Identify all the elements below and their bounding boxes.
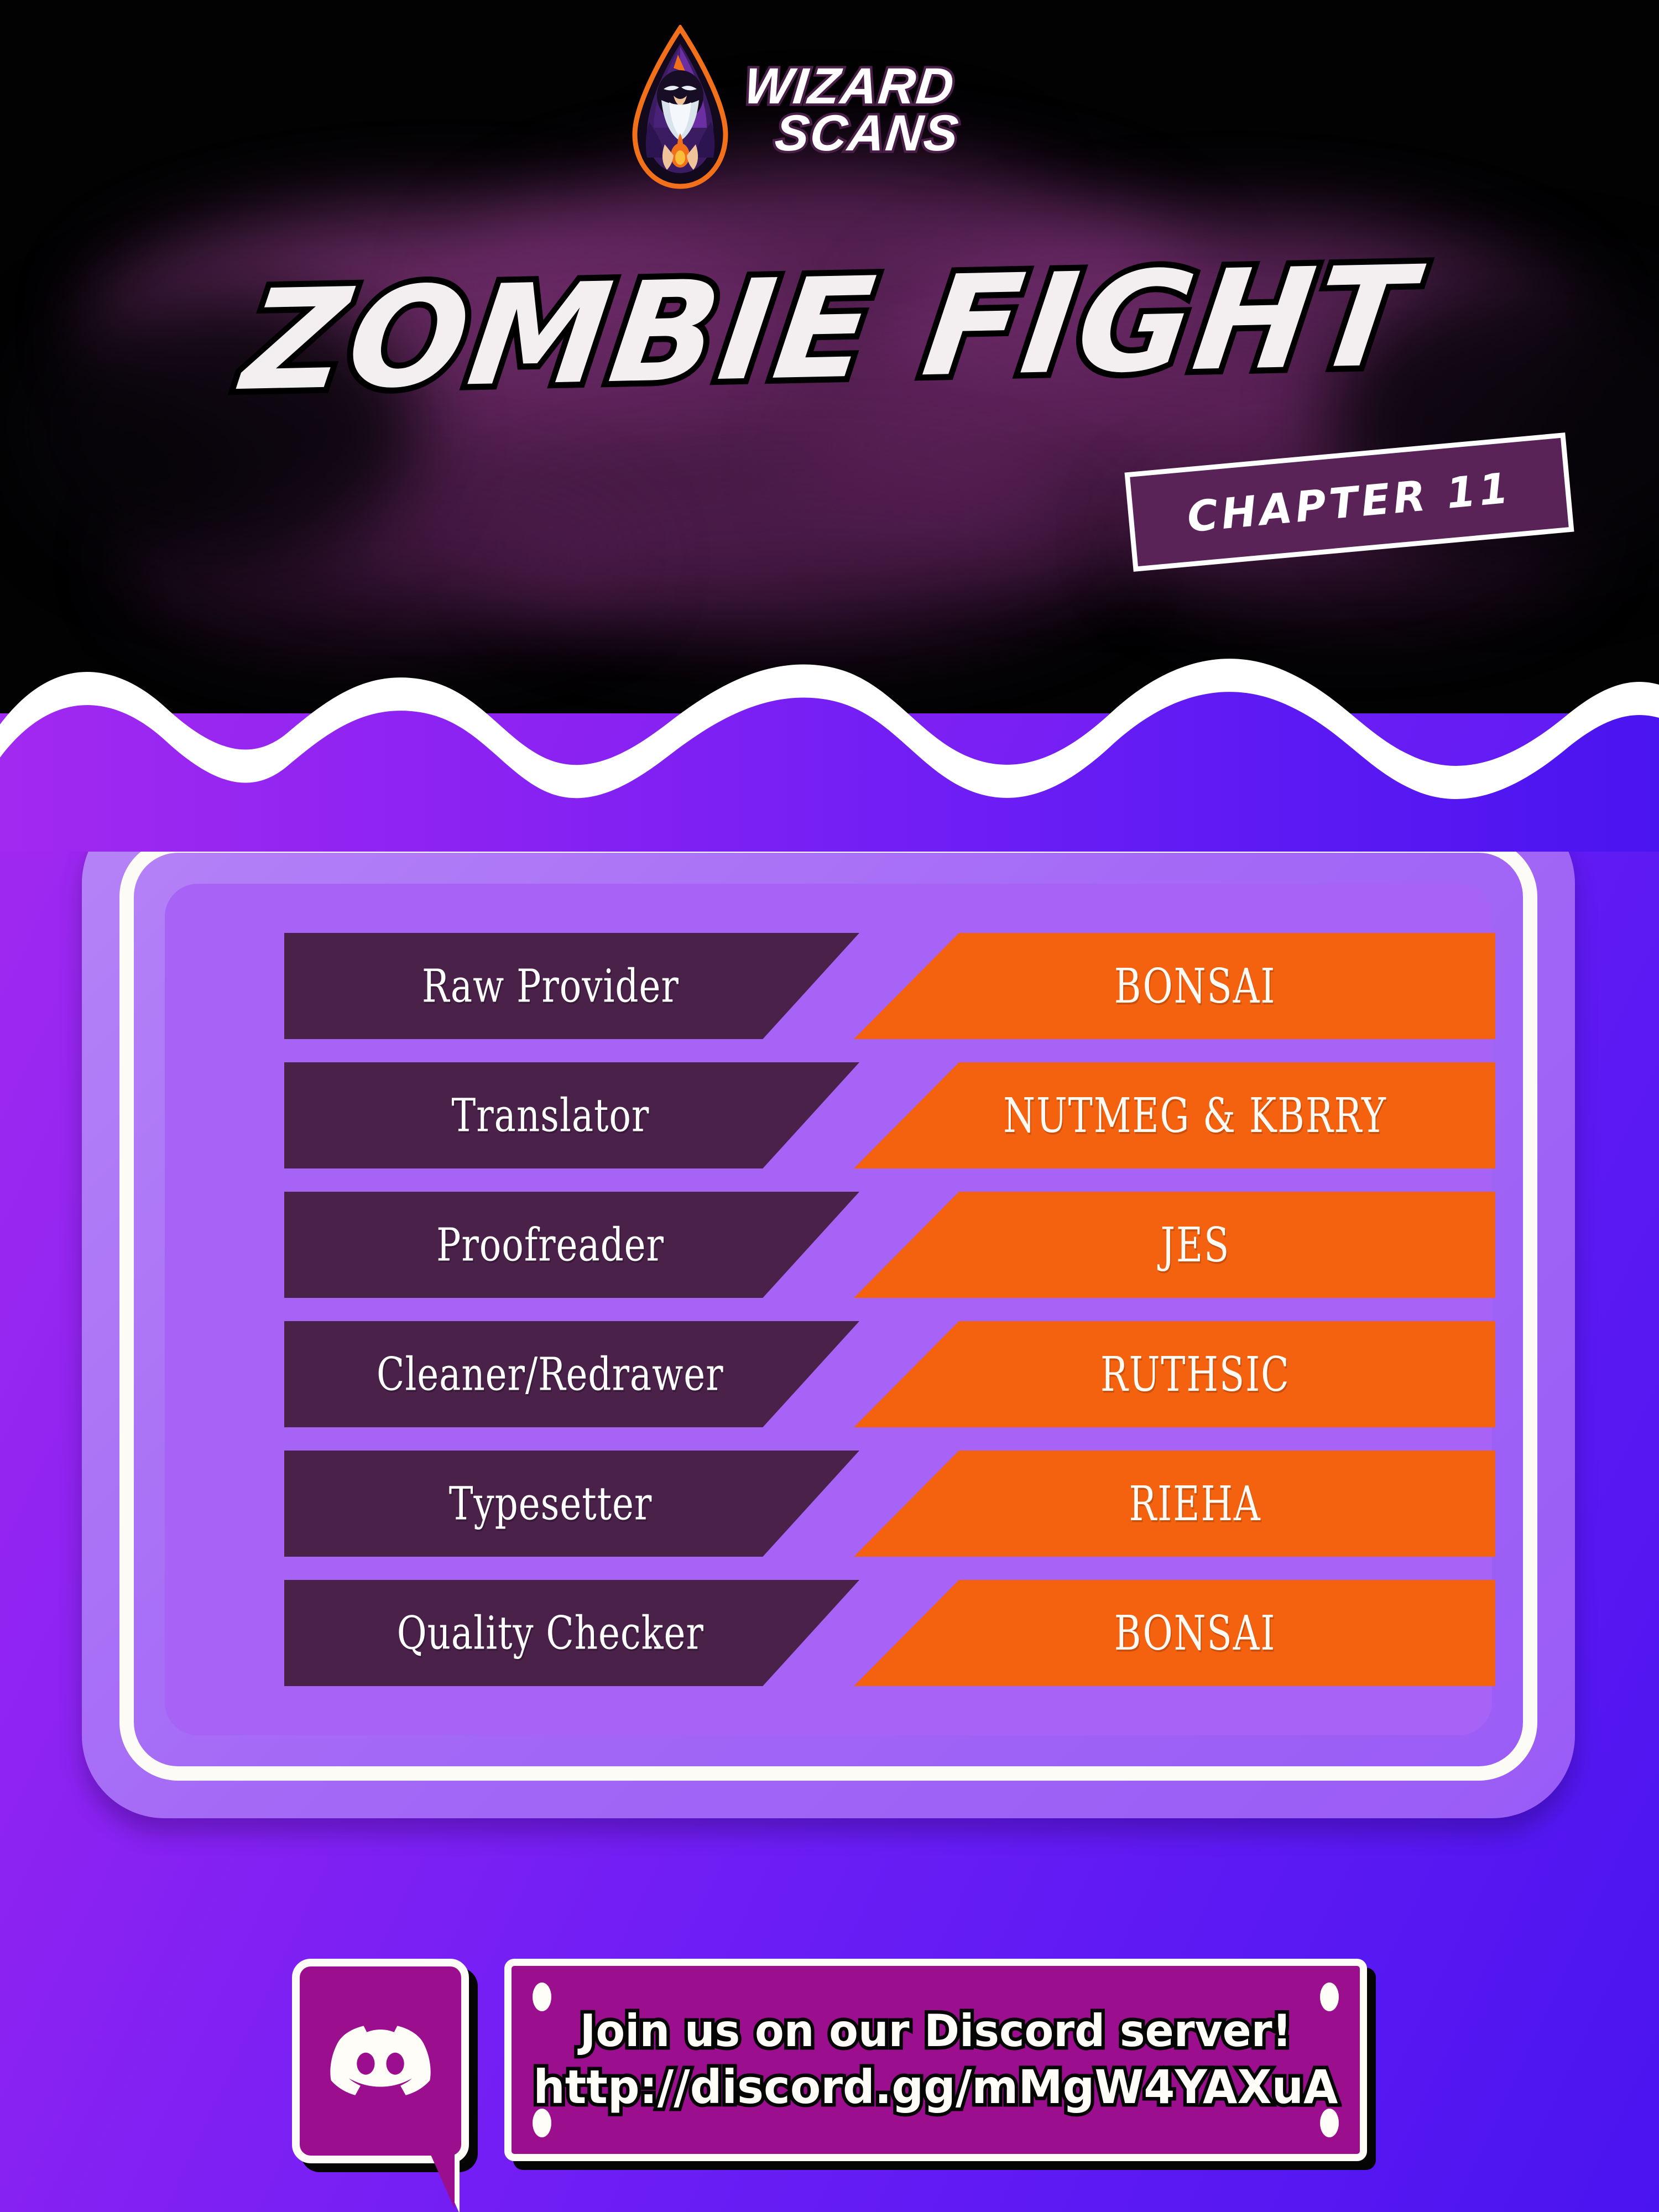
discord-invite-url[interactable]: http://discord.gg/mMgW4YAXuA — [533, 2060, 1338, 2115]
credit-role-label: Quality Checker — [397, 1606, 703, 1660]
table-row: Cleaner/Redrawer RUTHSIC — [179, 1321, 1478, 1427]
credit-role-label: Raw Provider — [422, 959, 679, 1013]
credit-name-panel: RUTHSIC — [854, 1321, 1495, 1427]
smoke-cloud-6 — [498, 465, 1106, 641]
credits-list: Raw Provider BONSAI Translator NUTMEG & … — [165, 884, 1492, 1735]
credit-name-panel: BONSAI — [854, 1580, 1495, 1686]
chapter-credits-page: WIZARD SCANS ZOMBIE FIGHT CHAPTER 11 — [0, 0, 1659, 2212]
credit-name-label: BONSAI — [1114, 1605, 1276, 1661]
credits-card: Raw Provider BONSAI Translator NUTMEG & … — [82, 801, 1575, 1818]
smoke-cloud-7 — [133, 476, 630, 641]
wave-divider — [0, 619, 1659, 852]
discord-invite-plate[interactable]: Join us on our Discord server! http://di… — [504, 1959, 1367, 2161]
rivet-top-right — [1320, 1983, 1339, 2011]
credit-role-panel: Raw Provider — [284, 933, 859, 1039]
discord-invite-headline: Join us on our Discord server! — [580, 2005, 1292, 2057]
discord-footer: Join us on our Discord server! http://di… — [0, 1958, 1659, 2212]
table-row: Quality Checker BONSAI — [179, 1580, 1478, 1686]
credit-role-panel: Translator — [284, 1062, 859, 1168]
credit-name-label: RUTHSIC — [1100, 1347, 1290, 1402]
table-row: Proofreader JES — [179, 1192, 1478, 1298]
credit-name-label: RIEHA — [1129, 1476, 1261, 1532]
series-title: ZOMBIE FIGHT — [236, 248, 1423, 410]
credit-name-panel: JES — [854, 1192, 1495, 1298]
credit-role-label: Typesetter — [448, 1477, 652, 1531]
credit-role-panel: Proofreader — [284, 1192, 859, 1298]
brand-word-wizard: WIZARD — [742, 63, 957, 110]
credit-role-panel: Cleaner/Redrawer — [284, 1321, 859, 1427]
credit-name-label: NUTMEG & KBRRY — [1003, 1088, 1387, 1144]
credit-name-label: BONSAI — [1114, 958, 1276, 1014]
credit-name-panel: RIEHA — [854, 1451, 1495, 1557]
discord-logo-icon — [328, 2020, 433, 2103]
credits-card-ring: Raw Provider BONSAI Translator NUTMEG & … — [119, 838, 1537, 1781]
credit-role-label: Proofreader — [436, 1218, 664, 1272]
brand-wordmark: WIZARD SCANS — [744, 59, 959, 156]
credit-role-label: Translator — [451, 1089, 649, 1142]
rivet-top-left — [533, 1983, 551, 2011]
brand-lockup: WIZARD SCANS — [630, 17, 1040, 199]
table-row: Raw Provider BONSAI — [179, 933, 1478, 1039]
credit-name-panel: BONSAI — [854, 933, 1495, 1039]
credit-role-panel: Typesetter — [284, 1451, 859, 1557]
discord-icon-bubble[interactable] — [292, 1959, 469, 2163]
chapter-badge-label: CHAPTER 11 — [1185, 463, 1514, 541]
table-row: Typesetter RIEHA — [179, 1451, 1478, 1557]
credit-name-panel: NUTMEG & KBRRY — [854, 1062, 1495, 1168]
brand-word-scans: SCANS — [773, 110, 962, 157]
credit-role-label: Cleaner/Redrawer — [377, 1348, 724, 1401]
table-row: Translator NUTMEG & KBRRY — [179, 1062, 1478, 1168]
credit-name-label: JES — [1160, 1217, 1230, 1273]
credit-role-panel: Quality Checker — [284, 1580, 859, 1686]
wizard-mascot-icon — [630, 25, 730, 191]
series-title-wrap: ZOMBIE FIGHT — [0, 260, 1659, 398]
